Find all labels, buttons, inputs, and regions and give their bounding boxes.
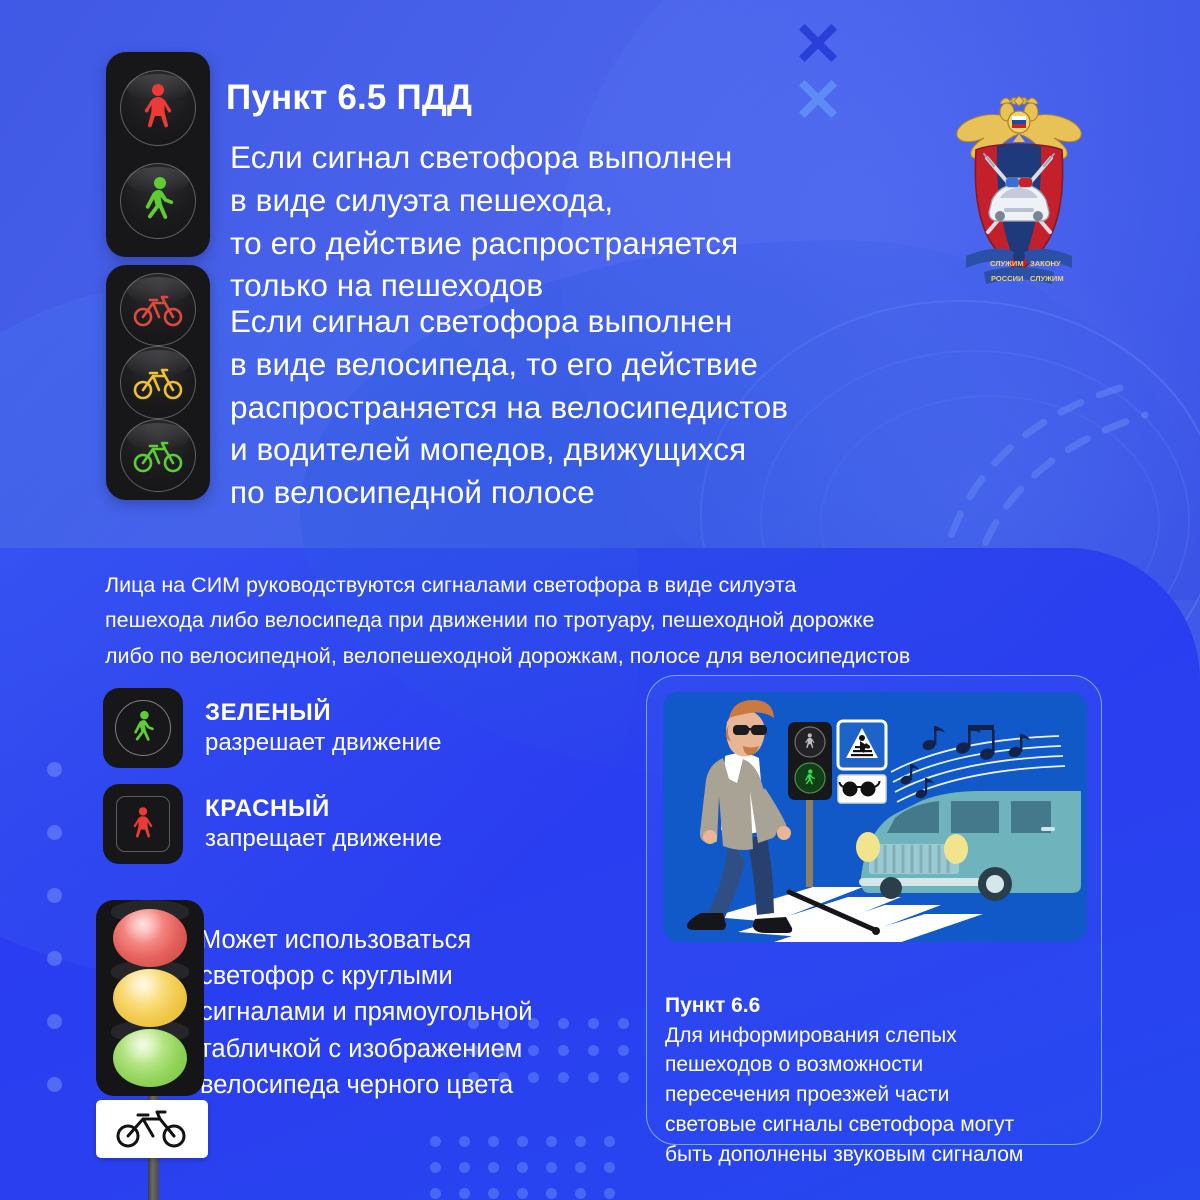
pedestrian-standing-icon bbox=[129, 806, 157, 842]
decor-dot-column bbox=[47, 762, 62, 1140]
signal-text-green: ЗЕЛЕНЫЙ разрешает движение bbox=[205, 699, 442, 757]
signal-row-red: КРАСНЫЙ запрещает движение bbox=[103, 784, 442, 864]
lamp-green-bicycle bbox=[120, 419, 196, 492]
signal-icon-box-green bbox=[103, 688, 183, 768]
lead-paragraph: Лица на СИМ руководствуются сигналами св… bbox=[105, 568, 1115, 674]
bicycle-icon bbox=[132, 293, 184, 327]
info-card-title: Пункт 6.6 bbox=[665, 991, 1089, 1021]
paragraph-bicycle-signal: Если сигнал светофора выполнен в виде ве… bbox=[230, 300, 788, 514]
bulb-amber bbox=[113, 969, 187, 1027]
bicycle-sign-icon bbox=[112, 1109, 192, 1149]
bicycle-icon bbox=[132, 439, 184, 473]
round-traffic-light-group bbox=[96, 900, 204, 1096]
emblem-motto-left: СЛУЖИМ bbox=[990, 259, 1024, 268]
infographic-poster: Пункт 6.5 ПДД Если сигнал светофора выпо… bbox=[0, 0, 1200, 1200]
signal-description-red: запрещает движение bbox=[205, 825, 442, 853]
decor-x-icon-dark bbox=[795, 20, 841, 66]
signal-description-green: разрешает движение bbox=[205, 729, 442, 757]
info-card-text: Пункт 6.6Для информирования слепых пешех… bbox=[665, 961, 1089, 1170]
emblem-motto-center-top: РОССИИ bbox=[991, 274, 1023, 283]
decor-dot-grid-bottom bbox=[430, 1136, 633, 1200]
bicycle-sign-plate bbox=[96, 1100, 208, 1158]
signal-label-green: ЗЕЛЕНЫЙ bbox=[205, 699, 442, 727]
signal-text-red: КРАСНЫЙ запрещает движение bbox=[205, 795, 442, 853]
info-card-body: Для информирования слепых пешеходов о во… bbox=[665, 1024, 1023, 1166]
lamp-green-pedestrian bbox=[120, 163, 196, 239]
signal-row-green: ЗЕЛЕНЫЙ разрешает движение bbox=[103, 688, 442, 768]
pedestrian-crossing-sign bbox=[838, 721, 886, 769]
bulb-red bbox=[113, 909, 187, 967]
signal-icon-box-red bbox=[103, 784, 183, 864]
pedestrian-standing-icon bbox=[138, 83, 178, 133]
lamp-amber-bicycle bbox=[120, 346, 196, 419]
pedestrian-traffic-light bbox=[106, 52, 210, 257]
info-card-6-6: Пункт 6.6Для информирования слепых пешех… bbox=[646, 675, 1102, 1145]
signal-frame-circle bbox=[115, 700, 171, 756]
pedestrian-walking-icon bbox=[137, 176, 179, 226]
gibdd-emblem: СЛУЖИМ ЗАКОНУ РОССИИ СЛУЖИМ bbox=[944, 92, 1094, 292]
round-traffic-light bbox=[96, 900, 204, 1096]
bulb-green bbox=[113, 1029, 187, 1087]
paragraph-pedestrian-signal: Если сигнал светофора выполнен в виде си… bbox=[230, 136, 738, 307]
lamp-red-pedestrian bbox=[120, 70, 196, 146]
signal-label-red: КРАСНЫЙ bbox=[205, 795, 442, 823]
blind-pedestrian-crossing-illustration bbox=[663, 692, 1087, 942]
pedestrian-walking-icon bbox=[128, 710, 158, 746]
emblem-motto-right: ЗАКОНУ bbox=[1030, 259, 1061, 268]
bicycle-traffic-light bbox=[106, 265, 210, 500]
emblem-motto-center-bottom: СЛУЖИМ bbox=[1030, 274, 1064, 283]
signal-frame-square bbox=[116, 796, 170, 852]
lamp-red-bicycle bbox=[120, 273, 196, 346]
round-light-description: Может использоваться светофор с круглыми… bbox=[200, 922, 620, 1103]
bicycle-icon bbox=[132, 366, 184, 400]
page-title: Пункт 6.5 ПДД bbox=[226, 78, 472, 118]
decor-x-icon-light bbox=[795, 76, 841, 122]
blind-pedestrian-sign bbox=[838, 775, 886, 803]
